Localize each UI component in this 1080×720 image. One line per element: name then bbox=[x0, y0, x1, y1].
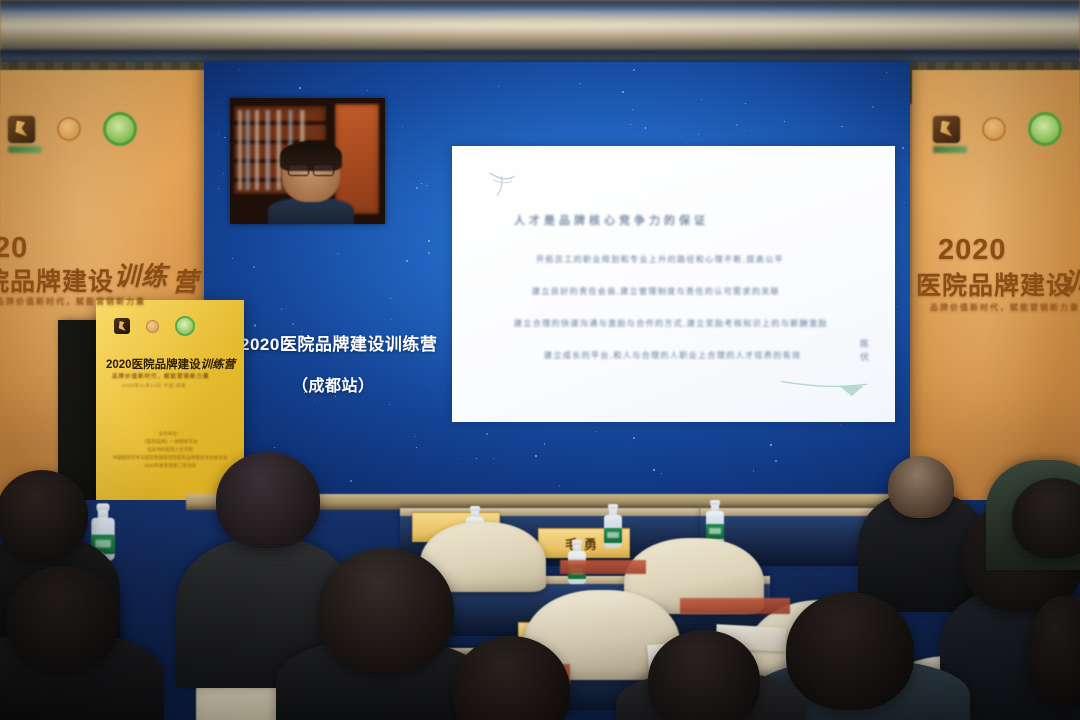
podium-title-main: 医院品牌建设 bbox=[132, 359, 201, 371]
audience-head-4 bbox=[318, 548, 454, 672]
audience-head-2 bbox=[6, 566, 120, 670]
podium-body-line-1: 主办单位： bbox=[110, 430, 230, 438]
backdrop-right-year: 2020 bbox=[938, 234, 1007, 267]
podium-logo-green-circle-icon bbox=[175, 316, 195, 336]
audience-head-9 bbox=[648, 630, 760, 720]
podium-logo-square-icon bbox=[114, 318, 130, 334]
backdrop-right-subtitle: 品牌价值新时代，赋能营销新力量 bbox=[930, 302, 1080, 313]
projection-screen: 人才是品牌核心竞争力的保证 开拓员工的职业规划和专业上升的路径和心理不断,提高公… bbox=[204, 62, 910, 502]
podium-title-script: 训练营 bbox=[201, 359, 236, 371]
glasses-icon bbox=[288, 164, 334, 174]
screen-caption-main: 2020医院品牌建设训练营 bbox=[240, 330, 437, 355]
audience-head-8 bbox=[786, 592, 914, 710]
slide-heading: 人才是品牌核心竞争力的保证 bbox=[514, 212, 709, 228]
backdrop-right-script-title: 训 bbox=[1062, 262, 1080, 299]
podium-title-row: 2020医院品牌建设训练营 bbox=[106, 356, 234, 372]
projection-screen-surface: 人才是品牌核心竞争力的保证 开拓员工的职业规划和专业上升的路径和心理不断,提高公… bbox=[204, 62, 910, 502]
slide-signature-char-1: 陈 bbox=[860, 338, 869, 351]
podium-logo-circle-icon bbox=[146, 320, 159, 333]
water-bottle-2 bbox=[604, 504, 622, 548]
podium-sponsor-logos bbox=[114, 316, 195, 336]
podium-body-text: 主办单位： 《医院品牌》一体媒体平台 北京中科医院人才学院 中国医院学术与医院管… bbox=[110, 430, 230, 470]
sponsor-logo-green-circle-right-icon bbox=[1028, 112, 1062, 146]
podium-body-line-4: 中国医院学术与医院管理研究院医院品牌建设专业委员会 bbox=[110, 454, 230, 462]
sponsor-logo-circle-icon bbox=[57, 117, 81, 141]
backdrop-right-main-title: 医院品牌建设 bbox=[916, 266, 1072, 302]
slide-signature: 陈 伏 bbox=[860, 338, 869, 364]
podium-body-line-2: 《医院品牌》一体媒体平台 bbox=[110, 438, 230, 446]
podium-title-year: 2020 bbox=[106, 359, 132, 371]
sponsor-logo-circle-right-icon bbox=[982, 117, 1006, 141]
sponsor-logo-square-icon bbox=[8, 116, 35, 143]
slide-bullet-3: 建立合理的快速沟通与激励与合作的方式,建立奖励考核知识上的与薪酬激励 bbox=[514, 318, 828, 329]
backdrop-left-script-tail: 营 bbox=[172, 262, 199, 299]
table-runner-1 bbox=[560, 560, 646, 574]
sponsor-logo-green-circle-icon bbox=[103, 112, 137, 146]
podium-body-line-3: 北京中科医院人才学院 bbox=[110, 446, 230, 454]
sponsor-logos-left bbox=[8, 112, 137, 146]
backdrop-left-main-title: 院品牌建设 bbox=[0, 262, 114, 298]
slide-swoosh-icon bbox=[777, 376, 873, 398]
slide-brush-mark-icon bbox=[486, 168, 520, 198]
remote-speaker-video-feed bbox=[230, 98, 385, 224]
backdrop-left-script-title: 训练 bbox=[114, 256, 168, 293]
screen-caption-sub: （成都站） bbox=[292, 372, 375, 396]
audience-head-1 bbox=[0, 470, 88, 558]
slide-bullet-1: 开拓员工的职业规划和专业上升的路径和心理不断,提高公平 bbox=[536, 254, 784, 265]
slide-bullet-2: 建立良好的责任会商,建立管理制度与责任的认可需求的关联 bbox=[532, 286, 780, 297]
sponsor-logo-square-right-icon bbox=[933, 116, 960, 143]
backdrop-left-year: 20 bbox=[0, 232, 28, 265]
audience-head-6 bbox=[888, 456, 954, 518]
podium-subtitle: 品牌价值新时代，赋能营销新力量 bbox=[112, 372, 230, 380]
conference-photo: 20 院品牌建设 训练 营 品牌价值新时代，赋能营销新力量 2020 医院品牌建… bbox=[0, 0, 1080, 720]
podium-body-line-5: 2020年度年度第二场活动 bbox=[110, 462, 230, 470]
water-bottle-3 bbox=[706, 500, 724, 544]
podium-date-line: 2020年11月12日 中国·成都 bbox=[122, 383, 186, 389]
backdrop-left-subtitle: 品牌价值新时代，赋能营销新力量 bbox=[0, 296, 146, 307]
audience-head-3 bbox=[216, 452, 320, 548]
table-runner-2 bbox=[680, 598, 790, 614]
slide-bullet-4: 建立成长的平台,和人与合理的人职业上合理的人才培养的有效 bbox=[544, 350, 801, 361]
slide-signature-char-2: 伏 bbox=[860, 351, 869, 364]
presentation-slide: 人才是品牌核心竞争力的保证 开拓员工的职业规划和专业上升的路径和心理不断,提高公… bbox=[452, 146, 895, 422]
sponsor-logos-right bbox=[933, 112, 1062, 146]
